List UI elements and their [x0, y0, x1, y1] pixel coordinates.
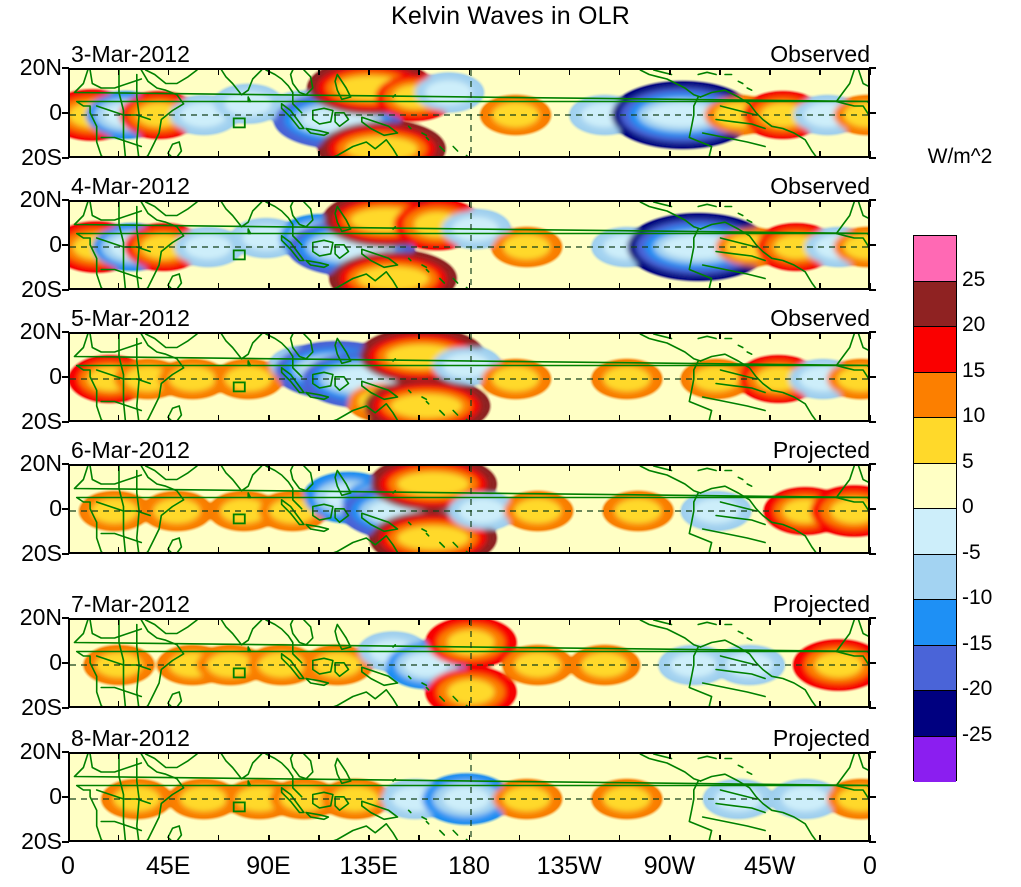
x-tick-mark	[669, 701, 671, 708]
x-tick-mark	[519, 835, 521, 842]
panel-date-label-1: 3-Mar-2012	[71, 41, 190, 68]
panel-date-label-2: 4-Mar-2012	[71, 173, 190, 200]
y-tick-label: 0	[0, 783, 62, 810]
colorbar-unit-label: W/m^2	[905, 145, 1015, 169]
colorbar-band-1[interactable]	[914, 282, 956, 328]
x-tick-mark	[569, 332, 571, 339]
y-tick-label: 20S	[0, 408, 62, 435]
x-tick-mark	[669, 415, 671, 422]
x-tick-mark	[819, 283, 821, 290]
x-tick-mark	[68, 618, 70, 625]
x-tick-mark	[218, 415, 220, 422]
x-tick-mark	[168, 464, 170, 471]
y-tick-mark	[62, 707, 69, 709]
y-tick-label: 0	[0, 495, 62, 522]
x-tick-mark	[168, 547, 170, 554]
x-tick-mark	[519, 547, 521, 554]
x-tick-mark	[168, 752, 170, 759]
x-tick-mark	[769, 464, 771, 471]
x-tick-mark	[368, 464, 370, 471]
y-tick-mark	[869, 376, 876, 378]
x-tick-mark	[769, 68, 771, 75]
panel-plot-area	[68, 618, 870, 708]
x-tick-mark	[168, 151, 170, 158]
panel-status-label-6: Projected	[773, 725, 870, 752]
x-tick-mark	[268, 283, 270, 290]
x-tick-mark	[218, 618, 220, 625]
x-tick-mark	[268, 332, 270, 339]
x-tick-mark	[218, 752, 220, 759]
x-tick-mark	[118, 835, 120, 842]
y-tick-label: 20N	[0, 738, 62, 765]
x-tick-mark	[619, 835, 621, 842]
x-tick-mark	[819, 464, 821, 471]
x-tick-mark	[669, 752, 671, 759]
colorbar-band-10[interactable]	[914, 691, 956, 737]
x-tick-mark	[469, 547, 471, 554]
x-tick-mark	[318, 701, 320, 708]
colorbar-tick-label: -25	[962, 723, 992, 747]
x-tick-mark	[719, 618, 721, 625]
x-tick-mark	[819, 752, 821, 759]
y-tick-mark	[62, 157, 69, 159]
map-panel-5	[68, 618, 870, 708]
x-tick-mark	[719, 464, 721, 471]
y-tick-mark	[62, 463, 69, 465]
x-tick-mark	[418, 835, 420, 842]
x-tick-mark	[268, 547, 270, 554]
x-tick-mark	[418, 415, 420, 422]
panel-date-label-6: 8-Mar-2012	[71, 725, 190, 752]
x-tick-mark	[68, 464, 70, 471]
x-tick-mark	[318, 151, 320, 158]
y-tick-label: 20N	[0, 186, 62, 213]
x-tick-mark	[619, 464, 621, 471]
figure-canvas: Kelvin Waves in OLR 20N020S20N020S20N020…	[0, 0, 1021, 887]
panel-plot-area	[68, 68, 870, 158]
map-panel-6	[68, 752, 870, 842]
x-tick-mark	[368, 283, 370, 290]
y-tick-label: 20N	[0, 54, 62, 81]
y-tick-mark	[869, 244, 876, 246]
x-tick-mark	[619, 332, 621, 339]
x-tick-mark	[669, 547, 671, 554]
x-tick-mark	[318, 618, 320, 625]
panel-plot-area	[68, 332, 870, 422]
colorbar-band-0[interactable]	[914, 236, 956, 282]
x-tick-mark	[268, 618, 270, 625]
x-tick-mark	[368, 151, 370, 158]
y-tick-mark	[62, 662, 69, 664]
x-tick-mark	[669, 332, 671, 339]
x-tick-mark	[368, 618, 370, 625]
panel-plot-area	[68, 752, 870, 842]
x-tick-mark	[519, 415, 521, 422]
page-title: Kelvin Waves in OLR	[0, 2, 1021, 31]
y-tick-mark	[869, 796, 876, 798]
y-tick-label: 0	[0, 649, 62, 676]
map-panel-4	[68, 464, 870, 554]
y-tick-mark	[62, 617, 69, 619]
x-tick-mark	[318, 68, 320, 75]
x-tick-mark	[669, 200, 671, 207]
x-tick-mark	[268, 752, 270, 759]
x-tick-mark	[569, 415, 571, 422]
y-tick-mark	[62, 553, 69, 555]
x-tick-mark	[118, 618, 120, 625]
x-tick-mark	[318, 752, 320, 759]
x-tick-mark	[168, 701, 170, 708]
x-tick-mark	[118, 415, 120, 422]
x-tick-mark	[519, 332, 521, 339]
x-tick-mark	[418, 151, 420, 158]
panel-plot-area	[68, 464, 870, 554]
x-tick-label: 45W	[725, 852, 815, 881]
y-tick-label: 20S	[0, 828, 62, 855]
panel-status-label-5: Projected	[773, 591, 870, 618]
x-tick-mark	[268, 835, 270, 842]
x-tick-mark	[68, 200, 70, 207]
x-tick-mark	[769, 835, 771, 842]
y-tick-mark	[62, 199, 69, 201]
x-tick-mark	[819, 332, 821, 339]
x-tick-mark	[368, 701, 370, 708]
x-tick-label: 90W	[625, 852, 715, 881]
x-tick-mark	[218, 332, 220, 339]
x-tick-mark	[819, 151, 821, 158]
x-tick-mark	[68, 332, 70, 339]
x-tick-mark	[418, 283, 420, 290]
x-tick-mark	[118, 547, 120, 554]
x-tick-mark	[619, 618, 621, 625]
y-tick-label: 20N	[0, 450, 62, 477]
x-tick-mark	[168, 415, 170, 422]
y-tick-mark	[869, 707, 876, 709]
x-tick-mark	[819, 835, 821, 842]
x-tick-mark	[218, 701, 220, 708]
x-tick-mark	[569, 200, 571, 207]
y-tick-label: 20S	[0, 694, 62, 721]
x-tick-mark	[619, 701, 621, 708]
colorbar-band-8[interactable]	[914, 600, 956, 646]
x-tick-label: 45E	[123, 852, 213, 881]
y-tick-label: 20S	[0, 144, 62, 171]
x-tick-mark	[469, 415, 471, 422]
x-tick-mark	[569, 752, 571, 759]
x-tick-mark	[318, 283, 320, 290]
panel-date-label-3: 5-Mar-2012	[71, 305, 190, 332]
y-tick-mark	[869, 841, 876, 843]
y-tick-mark	[869, 463, 876, 465]
colorbar-band-4[interactable]	[914, 418, 956, 464]
x-tick-mark	[519, 464, 521, 471]
x-tick-mark	[619, 752, 621, 759]
x-tick-mark	[268, 701, 270, 708]
x-tick-label: 90E	[224, 852, 314, 881]
x-tick-mark	[870, 752, 872, 759]
panel-status-label-4: Projected	[773, 437, 870, 464]
y-tick-mark	[62, 508, 69, 510]
x-tick-mark	[418, 200, 420, 207]
y-tick-mark	[62, 751, 69, 753]
x-tick-mark	[218, 283, 220, 290]
x-tick-mark	[318, 547, 320, 554]
x-tick-mark	[870, 68, 872, 75]
x-tick-mark	[619, 415, 621, 422]
x-tick-mark	[719, 200, 721, 207]
panel-status-label-3: Observed	[770, 305, 870, 332]
x-tick-mark	[870, 618, 872, 625]
x-tick-mark	[619, 68, 621, 75]
colorbar-tick-label: 15	[962, 359, 985, 383]
x-tick-mark	[469, 752, 471, 759]
y-tick-label: 0	[0, 99, 62, 126]
x-tick-mark	[268, 68, 270, 75]
x-tick-mark	[619, 283, 621, 290]
x-tick-mark	[68, 752, 70, 759]
x-tick-mark	[519, 283, 521, 290]
x-tick-mark	[669, 835, 671, 842]
x-tick-mark	[418, 752, 420, 759]
x-tick-mark	[118, 752, 120, 759]
y-tick-mark	[62, 796, 69, 798]
y-tick-mark	[62, 331, 69, 333]
colorbar-band-11[interactable]	[914, 737, 956, 783]
x-tick-mark	[418, 618, 420, 625]
x-tick-mark	[469, 618, 471, 625]
x-tick-mark	[368, 752, 370, 759]
x-tick-mark	[769, 547, 771, 554]
x-tick-mark	[218, 68, 220, 75]
x-tick-mark	[118, 332, 120, 339]
x-tick-mark	[870, 332, 872, 339]
y-tick-mark	[869, 751, 876, 753]
x-tick-mark	[819, 415, 821, 422]
y-tick-mark	[869, 157, 876, 159]
x-tick-mark	[719, 68, 721, 75]
colorbar-tick-label: 25	[962, 268, 985, 292]
x-tick-mark	[469, 332, 471, 339]
x-tick-label: 180	[424, 852, 514, 881]
panel-plot-area	[68, 200, 870, 290]
x-tick-mark	[870, 200, 872, 207]
x-tick-mark	[819, 618, 821, 625]
y-tick-mark	[869, 67, 876, 69]
x-tick-mark	[519, 618, 521, 625]
panel-date-label-4: 6-Mar-2012	[71, 437, 190, 464]
y-tick-mark	[62, 289, 69, 291]
map-panel-3	[68, 332, 870, 422]
x-tick-label: 0	[23, 852, 113, 881]
colorbar-band-7[interactable]	[914, 555, 956, 601]
colorbar-tick-label: -10	[962, 586, 992, 610]
colorbar-tick-label: 10	[962, 404, 985, 428]
panel-status-label-1: Observed	[770, 41, 870, 68]
x-tick-mark	[569, 547, 571, 554]
x-tick-mark	[469, 835, 471, 842]
x-tick-mark	[318, 415, 320, 422]
x-tick-mark	[118, 200, 120, 207]
x-tick-mark	[469, 283, 471, 290]
x-tick-mark	[368, 415, 370, 422]
x-tick-mark	[368, 547, 370, 554]
x-tick-mark	[769, 701, 771, 708]
x-tick-mark	[368, 200, 370, 207]
x-tick-mark	[268, 464, 270, 471]
x-tick-mark	[469, 200, 471, 207]
y-tick-mark	[869, 199, 876, 201]
x-tick-label: 0	[825, 852, 915, 881]
x-tick-mark	[469, 464, 471, 471]
colorbar-tick-label: 20	[962, 313, 985, 337]
panel-status-label-2: Observed	[770, 173, 870, 200]
x-tick-mark	[118, 68, 120, 75]
x-tick-mark	[469, 701, 471, 708]
x-tick-mark	[168, 283, 170, 290]
x-tick-mark	[569, 68, 571, 75]
x-tick-mark	[669, 618, 671, 625]
x-tick-mark	[368, 68, 370, 75]
map-panel-1	[68, 68, 870, 158]
x-tick-mark	[619, 200, 621, 207]
panel-date-label-5: 7-Mar-2012	[71, 591, 190, 618]
x-tick-mark	[168, 68, 170, 75]
x-tick-mark	[519, 200, 521, 207]
colorbar-band-9[interactable]	[914, 646, 956, 692]
y-tick-mark	[62, 421, 69, 423]
x-tick-mark	[418, 68, 420, 75]
x-tick-mark	[569, 701, 571, 708]
x-tick-mark	[418, 701, 420, 708]
y-tick-label: 20N	[0, 318, 62, 345]
x-tick-mark	[168, 835, 170, 842]
y-tick-mark	[62, 244, 69, 246]
y-tick-label: 0	[0, 231, 62, 258]
x-tick-mark	[619, 547, 621, 554]
x-tick-mark	[569, 618, 571, 625]
x-tick-mark	[218, 151, 220, 158]
x-tick-mark	[719, 332, 721, 339]
x-tick-mark	[218, 547, 220, 554]
x-tick-mark	[418, 332, 420, 339]
x-tick-mark	[519, 752, 521, 759]
colorbar-tick-label: -5	[962, 541, 981, 565]
x-tick-mark	[719, 752, 721, 759]
y-tick-mark	[62, 841, 69, 843]
x-tick-mark	[318, 200, 320, 207]
y-tick-mark	[62, 67, 69, 69]
x-tick-mark	[719, 283, 721, 290]
x-tick-mark	[669, 68, 671, 75]
x-tick-mark	[719, 151, 721, 158]
y-tick-mark	[869, 508, 876, 510]
x-tick-mark	[118, 464, 120, 471]
x-tick-label: 135W	[524, 852, 614, 881]
x-tick-mark	[769, 415, 771, 422]
x-tick-mark	[569, 283, 571, 290]
x-tick-mark	[719, 415, 721, 422]
x-tick-mark	[469, 68, 471, 75]
x-tick-mark	[569, 464, 571, 471]
x-tick-mark	[719, 701, 721, 708]
colorbar-band-5[interactable]	[914, 464, 956, 510]
x-tick-label: 135E	[324, 852, 414, 881]
x-tick-mark	[769, 151, 771, 158]
x-tick-mark	[819, 547, 821, 554]
x-tick-mark	[68, 68, 70, 75]
x-tick-mark	[569, 151, 571, 158]
y-tick-mark	[62, 112, 69, 114]
x-tick-mark	[769, 332, 771, 339]
x-tick-mark	[819, 200, 821, 207]
x-tick-mark	[519, 701, 521, 708]
x-tick-mark	[118, 151, 120, 158]
x-tick-mark	[368, 835, 370, 842]
x-tick-mark	[118, 283, 120, 290]
colorbar-tick-label: 0	[962, 495, 974, 519]
x-tick-mark	[519, 151, 521, 158]
x-tick-mark	[819, 68, 821, 75]
x-tick-mark	[769, 752, 771, 759]
x-tick-mark	[218, 200, 220, 207]
x-tick-mark	[619, 151, 621, 158]
x-tick-mark	[418, 464, 420, 471]
x-tick-mark	[168, 618, 170, 625]
map-panel-2	[68, 200, 870, 290]
colorbar[interactable]	[913, 235, 957, 781]
x-tick-mark	[769, 200, 771, 207]
colorbar-tick-label: -15	[962, 632, 992, 656]
x-tick-mark	[268, 415, 270, 422]
colorbar-band-6[interactable]	[914, 509, 956, 555]
x-tick-mark	[218, 835, 220, 842]
x-tick-mark	[318, 332, 320, 339]
x-tick-mark	[769, 283, 771, 290]
x-tick-mark	[168, 200, 170, 207]
x-tick-mark	[118, 701, 120, 708]
x-tick-mark	[318, 835, 320, 842]
y-tick-label: 20S	[0, 540, 62, 567]
x-tick-mark	[669, 283, 671, 290]
y-tick-label: 20N	[0, 604, 62, 631]
colorbar-band-3[interactable]	[914, 373, 956, 419]
x-tick-mark	[669, 464, 671, 471]
x-tick-mark	[218, 464, 220, 471]
y-tick-mark	[62, 376, 69, 378]
x-tick-mark	[368, 332, 370, 339]
x-tick-mark	[870, 464, 872, 471]
x-tick-mark	[819, 701, 821, 708]
x-tick-mark	[519, 68, 521, 75]
x-tick-mark	[769, 618, 771, 625]
y-tick-mark	[869, 112, 876, 114]
x-tick-mark	[318, 464, 320, 471]
y-tick-mark	[869, 331, 876, 333]
x-tick-mark	[168, 332, 170, 339]
y-tick-mark	[869, 662, 876, 664]
y-tick-mark	[869, 617, 876, 619]
x-tick-mark	[268, 200, 270, 207]
colorbar-band-2[interactable]	[914, 327, 956, 373]
y-tick-mark	[869, 421, 876, 423]
x-tick-mark	[719, 835, 721, 842]
x-tick-mark	[268, 151, 270, 158]
x-tick-mark	[669, 151, 671, 158]
y-tick-mark	[869, 553, 876, 555]
y-tick-mark	[869, 289, 876, 291]
x-tick-mark	[569, 835, 571, 842]
y-tick-label: 20S	[0, 276, 62, 303]
